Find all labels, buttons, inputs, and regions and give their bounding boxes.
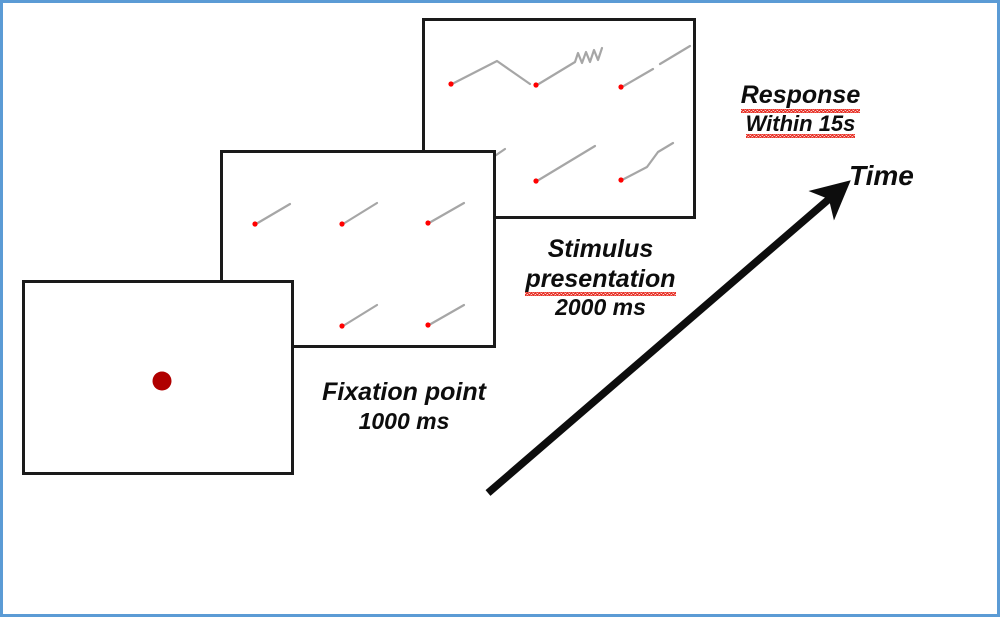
stimulus-shape-zigzag xyxy=(537,48,602,85)
response-label-misspelled-word: Response xyxy=(741,81,860,111)
time-axis-label: Time xyxy=(849,159,959,192)
time-axis-label-text: Time xyxy=(849,159,959,192)
stimulus-label-misspelled-word: presentation xyxy=(525,265,675,295)
stimulus-dot xyxy=(533,178,538,183)
stimulus-dot xyxy=(339,323,344,328)
stimulus-dot xyxy=(448,81,453,86)
fixation-label-line1: Fixation point xyxy=(304,378,504,408)
stimulus-dot xyxy=(425,220,430,225)
fixation-panel-graphics xyxy=(25,283,291,472)
figure-stage: Fixation point 1000 ms Stimulus presenta… xyxy=(3,3,997,614)
figure-canvas: Fixation point 1000 ms Stimulus presenta… xyxy=(0,0,1000,617)
stimulus-dot xyxy=(618,84,623,89)
stimulus-dot xyxy=(252,221,257,226)
stimulus-shape-straight xyxy=(343,203,377,224)
response-label: Response Within 15s xyxy=(708,81,893,136)
stimulus-label-line3: 2000 ms xyxy=(508,294,693,321)
stimulus-shape-straight xyxy=(537,146,595,181)
stimulus-shape-broken-lower xyxy=(622,69,653,87)
stimulus-dot xyxy=(533,82,538,87)
stimulus-shape-straight xyxy=(343,305,377,326)
stimulus-dot xyxy=(618,177,623,182)
response-label-line1: Response xyxy=(708,81,893,111)
stimulus-dot xyxy=(339,221,344,226)
fixation-label-line2: 1000 ms xyxy=(304,408,504,435)
fixation-panel xyxy=(22,280,294,475)
stimulus-shape-broken-upper xyxy=(660,46,690,64)
stimulus-shape-bent xyxy=(622,143,673,180)
response-label-misspelled-phrase: Within 15s xyxy=(746,111,856,137)
stimulus-shape-peak xyxy=(452,61,530,84)
stimulus-shape-straight xyxy=(429,203,464,223)
response-label-line2: Within 15s xyxy=(708,111,893,137)
stimulus-label: Stimulus presentation 2000 ms xyxy=(508,235,693,321)
stimulus-label-line2: presentation xyxy=(508,265,693,295)
fixation-dot xyxy=(153,372,172,391)
stimulus-label-line1: Stimulus xyxy=(508,235,693,265)
stimulus-shape-straight xyxy=(256,204,290,224)
fixation-label: Fixation point 1000 ms xyxy=(304,378,504,435)
stimulus-shape-straight xyxy=(429,305,464,325)
stimulus-dot xyxy=(425,322,430,327)
